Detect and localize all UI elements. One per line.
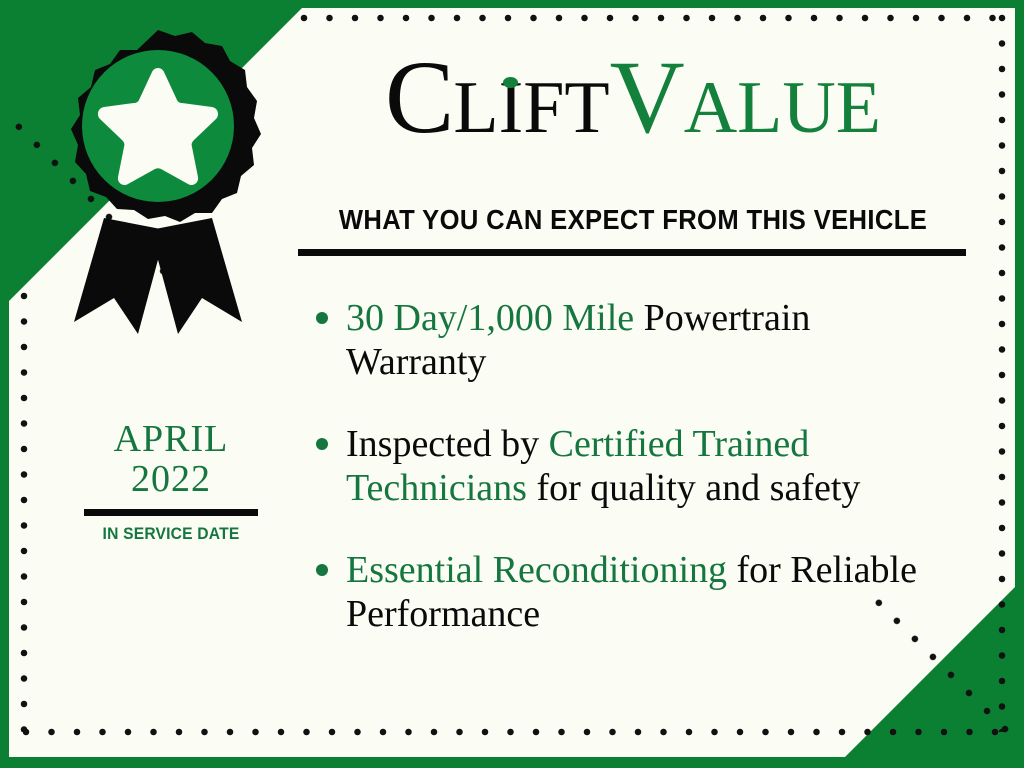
bullet-2-black-lead: Inspected by bbox=[346, 423, 549, 465]
in-service-divider-rule bbox=[84, 509, 258, 516]
in-service-date-block: APRIL 2022 IN SERVICE DATE bbox=[60, 420, 282, 544]
logo-letter-i-dotted: I bbox=[499, 71, 524, 145]
bullet-2-black-tail: for quality and safety bbox=[527, 467, 860, 509]
logo-letters-ft: FT bbox=[523, 67, 609, 149]
in-service-year: 2022 bbox=[60, 460, 282, 500]
title-divider-rule bbox=[298, 249, 966, 256]
logo-letter-l: L bbox=[453, 67, 498, 149]
award-ribbon-star-icon bbox=[42, 22, 274, 334]
dotted-border-bottom bbox=[22, 728, 1006, 736]
clift-value-badge-graphic: CLIFTVALUE WHAT YOU CAN EXPECT FROM THIS… bbox=[0, 0, 1024, 768]
subtitle-text: WHAT YOU CAN EXPECT FROM THIS VEHICLE bbox=[320, 204, 947, 236]
expectations-list: 30 Day/1,000 Mile Powertrain Warranty In… bbox=[306, 296, 956, 636]
dotted-border-top bbox=[300, 14, 1006, 22]
bullet-dot-icon bbox=[316, 564, 328, 576]
bullet-1-green-text: 30 Day/1,000 Mile bbox=[346, 297, 634, 339]
logo-letter-v: V bbox=[610, 40, 684, 155]
logo-letter-c: C bbox=[385, 40, 453, 155]
list-item: Inspected by Certified Trained Technicia… bbox=[306, 422, 956, 510]
in-service-date-label: IN SERVICE DATE bbox=[69, 524, 273, 544]
list-item: Essential Reconditioning for Reliable Pe… bbox=[306, 548, 956, 636]
dotted-border-right bbox=[998, 14, 1006, 732]
bullet-dot-icon bbox=[316, 312, 328, 324]
bullet-3-green-text: Essential Reconditioning bbox=[346, 549, 727, 591]
list-item: 30 Day/1,000 Mile Powertrain Warranty bbox=[306, 296, 956, 384]
dotted-border-left bbox=[20, 292, 28, 732]
bullet-dot-icon bbox=[316, 438, 328, 450]
brand-logo: CLIFTVALUE bbox=[296, 46, 970, 150]
logo-letters-alue: ALUE bbox=[684, 67, 881, 149]
in-service-month: APRIL bbox=[60, 420, 282, 460]
